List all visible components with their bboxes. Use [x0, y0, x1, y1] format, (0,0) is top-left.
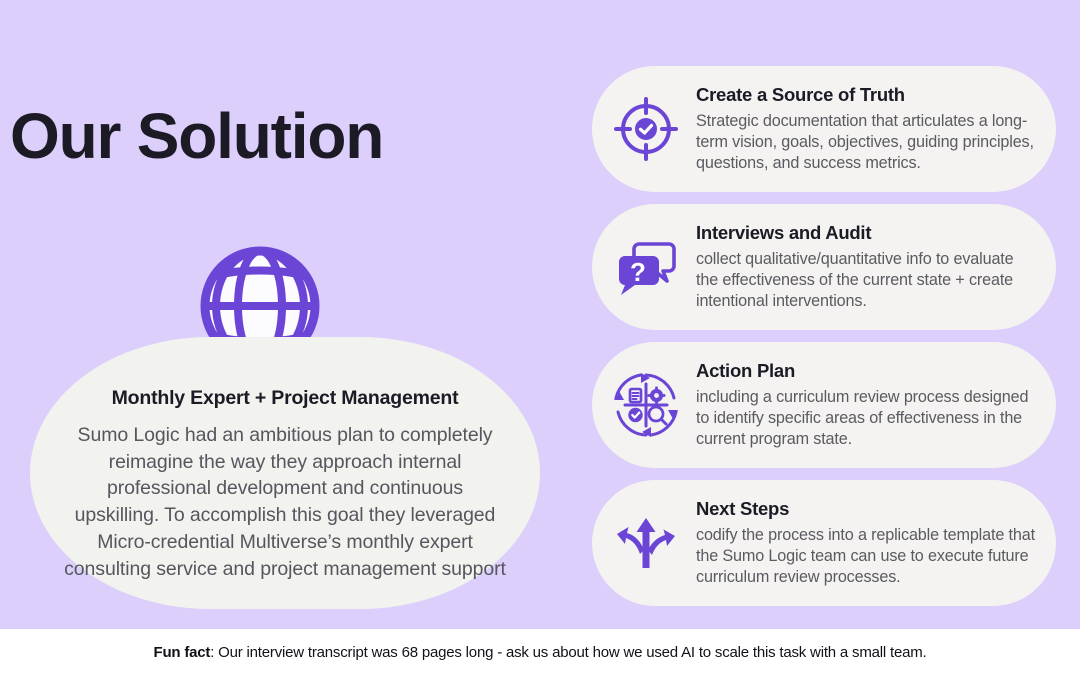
card-body: collect qualitative/quantitative info to…	[696, 249, 1036, 312]
card-body: including a curriculum review process de…	[696, 387, 1036, 450]
question-speech-bubble-icon: ?	[608, 229, 684, 305]
card-next-steps[interactable]: Next Steps codify the process into a rep…	[592, 480, 1056, 606]
footer-label: Fun fact	[153, 644, 210, 661]
footer-separator: :	[210, 644, 218, 661]
card-title: Next Steps	[696, 498, 1036, 520]
card-text-block: Interviews and Audit collect qualitative…	[684, 222, 1038, 312]
card-text-block: Next Steps codify the process into a rep…	[684, 498, 1038, 588]
card-body: codify the process into a replicable tem…	[696, 525, 1036, 588]
left-panel-body: Sumo Logic had an ambitious plan to comp…	[64, 422, 506, 582]
card-action-plan[interactable]: Action Plan including a curriculum revie…	[592, 342, 1056, 468]
left-panel-heading: Monthly Expert + Project Management	[64, 387, 506, 410]
card-title: Interviews and Audit	[696, 222, 1036, 244]
svg-text:?: ?	[630, 257, 646, 287]
slide-canvas: Our Solution Monthly Expert + Project Ma…	[0, 0, 1080, 675]
page-title: Our Solution	[10, 103, 530, 170]
footer-body: Our interview transcript was 68 pages lo…	[218, 644, 926, 661]
card-text-block: Action Plan including a curriculum revie…	[684, 360, 1038, 450]
footer-text: Fun fact: Our interview transcript was 6…	[153, 644, 926, 661]
target-check-icon	[608, 91, 684, 167]
card-create-a-source-of-truth[interactable]: Create a Source of Truth Strategic docum…	[592, 66, 1056, 192]
card-text-block: Create a Source of Truth Strategic docum…	[684, 84, 1038, 174]
card-interviews-and-audit[interactable]: ? Interviews and Audit collect qualitati…	[592, 204, 1056, 330]
card-title: Create a Source of Truth	[696, 84, 1036, 106]
three-way-arrow-icon	[608, 505, 684, 581]
card-body: Strategic documentation that articulates…	[696, 111, 1036, 174]
process-cycle-icon	[608, 367, 684, 443]
card-title: Action Plan	[696, 360, 1036, 382]
footer-bar: Fun fact: Our interview transcript was 6…	[0, 629, 1080, 675]
left-summary-panel: Monthly Expert + Project Management Sumo…	[30, 337, 540, 609]
